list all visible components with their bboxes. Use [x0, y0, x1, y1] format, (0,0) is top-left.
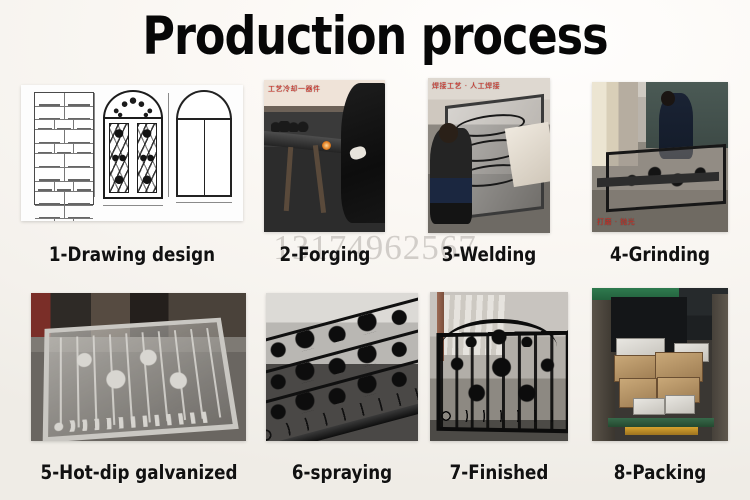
step-caption-2: 2-Forging [254, 244, 395, 266]
packing-photo [592, 288, 728, 441]
step-caption-6: 6-spraying [287, 462, 397, 484]
step-caption-7: 7-Finished [439, 462, 559, 484]
galvanizing-photo [31, 293, 246, 441]
step-caption-8: 8-Packing [600, 462, 720, 484]
camera-overlay-text-2: 工艺冷却一器件 [268, 84, 321, 94]
spraying-photo [266, 293, 418, 441]
step-image-8[interactable] [592, 288, 728, 441]
step-caption-5: 5-Hot-dip galvanized [19, 462, 258, 484]
welding-photo: 焊接工艺 · 人工焊接 [428, 78, 550, 233]
finished-gate-photo [430, 292, 568, 441]
production-process-poster: Production process [0, 0, 750, 500]
step-caption-4: 4-Grinding [586, 244, 734, 266]
cad-spec-table [34, 92, 94, 206]
step-image-6[interactable] [266, 293, 418, 441]
step-caption-3: 3-Welding [419, 244, 558, 266]
step-caption-1: 1-Drawing design [18, 244, 245, 266]
step-image-2[interactable]: 工艺冷却一器件 [264, 80, 385, 232]
forging-photo: 工艺冷却一器件 [264, 80, 385, 232]
grinding-photo: 打磨 · 抛光 [592, 82, 728, 232]
cad-door-elevation [103, 90, 163, 199]
step-image-5[interactable] [31, 293, 246, 441]
step-image-1[interactable] [21, 85, 243, 221]
step-image-7[interactable] [430, 292, 568, 441]
page-title: Production process [60, 6, 690, 68]
cad-frame-elevation [176, 90, 232, 196]
camera-overlay-text-3: 焊接工艺 · 人工焊接 [432, 81, 500, 91]
step-image-4[interactable]: 打磨 · 抛光 [592, 82, 728, 232]
step-image-3[interactable]: 焊接工艺 · 人工焊接 [428, 78, 550, 233]
camera-overlay-text-4: 打磨 · 抛光 [597, 217, 635, 227]
cad-drawing-illustration [21, 85, 243, 221]
